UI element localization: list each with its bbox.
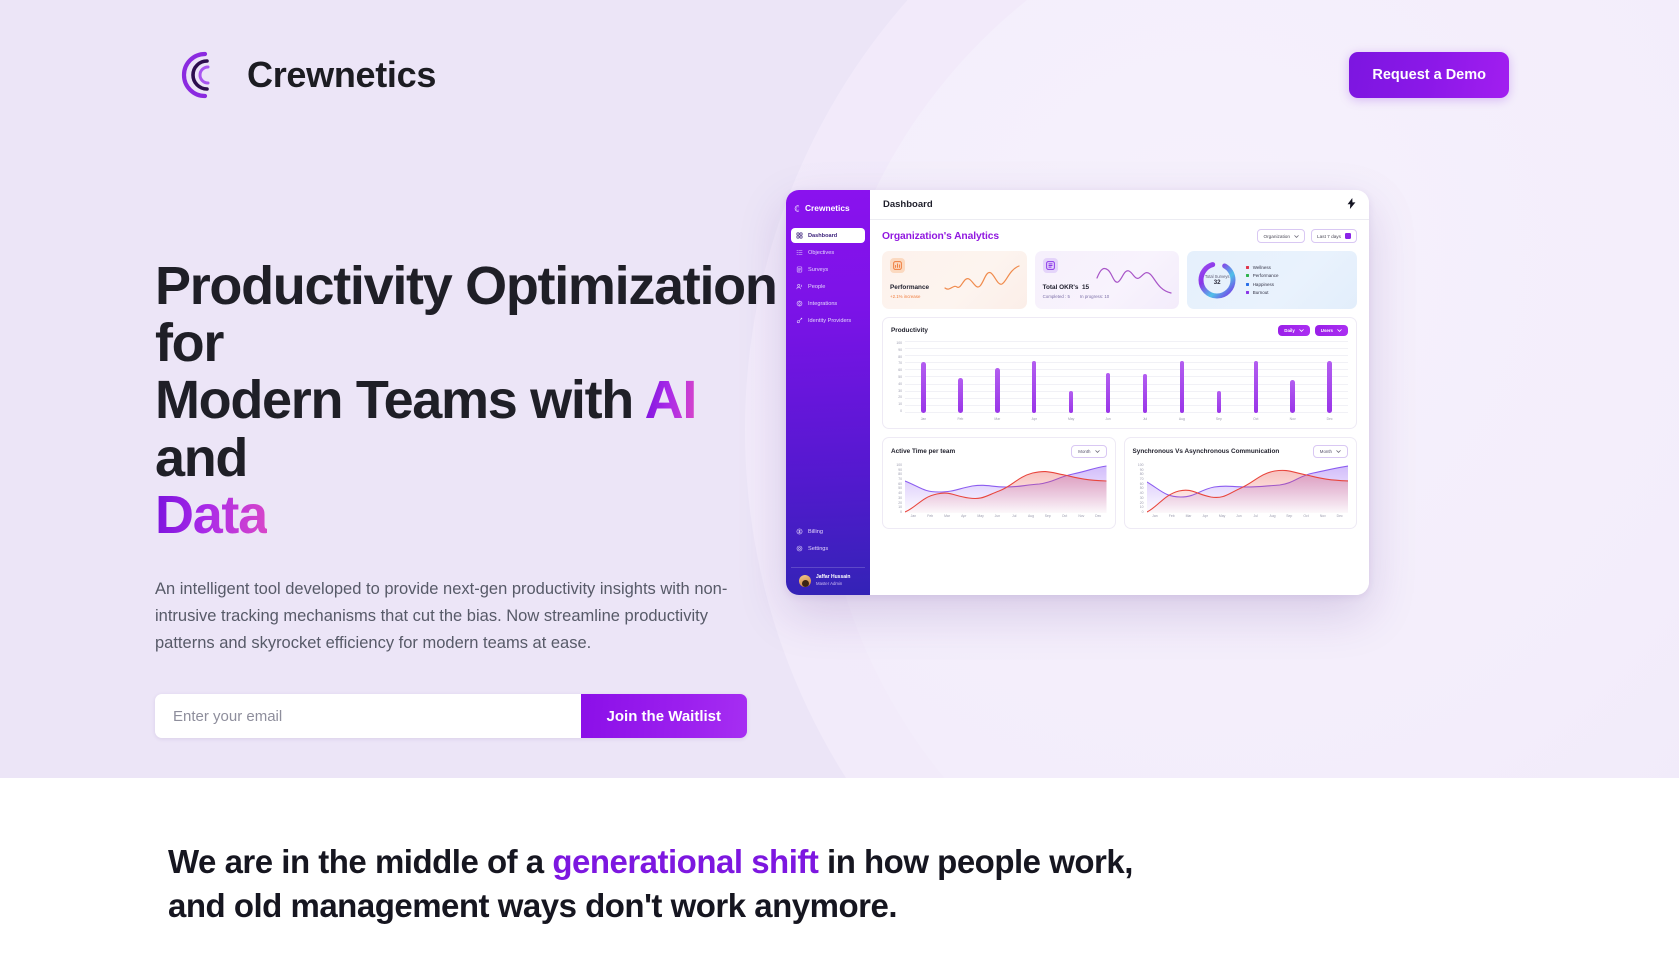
dashboard-body: Organization's Analytics Organization La… bbox=[870, 220, 1369, 595]
chart-plot-area: JanFebMarAprMayJunJulAugSepOctNovDec bbox=[905, 463, 1107, 521]
dashboard-main: Dashboard Organization's Analytics Organ… bbox=[870, 190, 1369, 595]
dashboard-mockup: Crewnetics Dashboard Objectiv bbox=[786, 190, 1369, 595]
panel-title: Synchronous Vs Asynchronous Communicatio… bbox=[1133, 448, 1280, 455]
donut-value: 32 bbox=[1214, 279, 1221, 286]
chevron-down-icon bbox=[1095, 450, 1100, 453]
bar bbox=[1327, 361, 1332, 413]
dashboard-brand: Crewnetics bbox=[786, 201, 870, 213]
active-time-panel: Active Time per team Month 1009080706050… bbox=[882, 437, 1116, 529]
survey-legend: Wellness Performance Happiness Burnout bbox=[1246, 265, 1278, 295]
bar bbox=[1032, 361, 1037, 413]
x-tick: Mar bbox=[1180, 514, 1197, 518]
legend-label: Wellness bbox=[1253, 265, 1271, 270]
chevron-down-icon bbox=[1336, 450, 1341, 453]
checklist-icon bbox=[1043, 258, 1058, 273]
headline-line-2-suffix: and bbox=[155, 428, 247, 488]
x-tick: Mar bbox=[979, 417, 1016, 421]
user-name: Jaffar Hussain bbox=[816, 574, 850, 581]
dashboard-header: Dashboard bbox=[870, 190, 1369, 220]
x-tick: Oct bbox=[1237, 417, 1274, 421]
x-tick: Aug bbox=[1163, 417, 1200, 421]
calendar-icon bbox=[1345, 233, 1351, 239]
card-okr-label: Total OKR's bbox=[1043, 284, 1079, 291]
bar-column bbox=[1200, 341, 1237, 413]
bar-column bbox=[1274, 341, 1311, 413]
bar-column bbox=[905, 341, 942, 413]
sidebar-label: Dashboard bbox=[808, 233, 837, 239]
x-tick: Jun bbox=[989, 514, 1006, 518]
section2-inner: We are in the middle of a generational s… bbox=[0, 778, 1679, 927]
area-charts-row: Active Time per team Month 1009080706050… bbox=[882, 437, 1357, 529]
x-tick: May bbox=[1053, 417, 1090, 421]
legend-swatch bbox=[1246, 291, 1249, 294]
sidebar-item-surveys[interactable]: Surveys bbox=[791, 262, 865, 277]
x-tick: Oct bbox=[1298, 514, 1315, 518]
page-title: Productivity Optimization for Modern Tea… bbox=[155, 258, 795, 544]
x-axis-labels: JanFebMarAprMayJunJulAugSepOctNovDec bbox=[905, 417, 1348, 421]
x-tick: Feb bbox=[1163, 514, 1180, 518]
headline-highlight-ai: AI bbox=[645, 370, 696, 430]
okr-sparkline bbox=[1095, 264, 1173, 301]
x-tick: Nov bbox=[1073, 514, 1090, 518]
x-tick: May bbox=[1214, 514, 1231, 518]
concentric-c-logo-icon bbox=[175, 48, 229, 102]
hero-copy: Productivity Optimization for Modern Tea… bbox=[155, 258, 795, 738]
request-demo-button[interactable]: Request a Demo bbox=[1349, 52, 1509, 98]
bar-column bbox=[1237, 341, 1274, 413]
comms-chart: 1009080706050403020100 bbox=[1133, 463, 1349, 521]
dollar-icon bbox=[796, 528, 803, 535]
card-surveys[interactable]: Total Surveys 32 Wellness Performance Ha… bbox=[1187, 251, 1357, 309]
email-input[interactable] bbox=[155, 694, 581, 738]
panel-title: Productivity bbox=[891, 327, 928, 334]
headline-highlight-data: Data bbox=[155, 485, 267, 545]
x-tick: Aug bbox=[1264, 514, 1281, 518]
donut-center-text: Total Surveys 32 bbox=[1195, 258, 1239, 302]
legend-item: Happiness bbox=[1246, 282, 1278, 287]
bar bbox=[958, 378, 963, 413]
productivity-bar-chart: 1009080706050403020100 JanFebMarAprMayJu… bbox=[891, 341, 1348, 421]
card-okr-value: 15 bbox=[1082, 284, 1089, 291]
key-icon bbox=[796, 317, 803, 324]
productivity-controls: Daily Users bbox=[1278, 325, 1348, 336]
sidebar-label: Objectives bbox=[808, 250, 834, 256]
bar-column bbox=[1090, 341, 1127, 413]
y-axis-labels: 1009080706050403020100 bbox=[891, 463, 905, 521]
x-tick: Nov bbox=[1314, 514, 1331, 518]
x-tick: Jun bbox=[1090, 417, 1127, 421]
analytics-title: Organization's Analytics bbox=[882, 231, 999, 242]
legend-swatch bbox=[1246, 274, 1249, 277]
control-month[interactable]: Month bbox=[1071, 445, 1106, 458]
bar bbox=[1217, 391, 1222, 413]
bar-column bbox=[1053, 341, 1090, 413]
bar bbox=[1254, 361, 1259, 413]
sidebar-item-dashboard[interactable]: Dashboard bbox=[791, 228, 865, 243]
comms-panel: Synchronous Vs Asynchronous Communicatio… bbox=[1124, 437, 1358, 529]
y-axis-labels: 1009080706050403020100 bbox=[891, 341, 905, 421]
comms-header: Synchronous Vs Asynchronous Communicatio… bbox=[1133, 445, 1349, 458]
top-navigation-bar: Crewnetics Request a Demo bbox=[0, 0, 1679, 150]
brand-logo[interactable]: Crewnetics bbox=[175, 48, 436, 102]
x-tick: Dec bbox=[1331, 514, 1348, 518]
legend-swatch bbox=[1246, 266, 1249, 269]
card-performance[interactable]: Performance +2.1% increase bbox=[882, 251, 1027, 309]
dashboard-page-title: Dashboard bbox=[883, 199, 933, 210]
chart-bars bbox=[905, 341, 1348, 413]
area-series bbox=[905, 463, 1107, 513]
chart-plot-area: JanFebMarAprMayJunJulAugSepOctNovDec bbox=[905, 341, 1348, 421]
sidebar-label: Billing bbox=[808, 529, 823, 535]
x-tick: May bbox=[972, 514, 989, 518]
control-daily[interactable]: Daily bbox=[1278, 325, 1310, 336]
x-tick: Dec bbox=[1311, 417, 1348, 421]
legend-label: Performance bbox=[1253, 273, 1279, 278]
x-tick: Dec bbox=[1090, 514, 1107, 518]
x-tick: Oct bbox=[1056, 514, 1073, 518]
x-tick: Sep bbox=[1281, 514, 1298, 518]
bar-column bbox=[1127, 341, 1164, 413]
bar-column bbox=[942, 341, 979, 413]
dashboard-nav-bottom: Billing Settings Jaffar Hussain Master A… bbox=[786, 524, 870, 595]
x-tick: Mar bbox=[939, 514, 956, 518]
comms-controls: Month bbox=[1313, 445, 1348, 458]
control-month[interactable]: Month bbox=[1313, 445, 1348, 458]
dashboard-brand-name: Crewnetics bbox=[805, 203, 850, 213]
user-info: Jaffar Hussain Master Admin bbox=[816, 574, 850, 587]
bar bbox=[1180, 361, 1185, 413]
okr-completed: Completed : 5 bbox=[1043, 294, 1070, 299]
x-tick: Jan bbox=[905, 514, 922, 518]
bar-column bbox=[1016, 341, 1053, 413]
active-time-header: Active Time per team Month bbox=[891, 445, 1107, 458]
avatar bbox=[799, 575, 811, 587]
x-tick: Feb bbox=[922, 514, 939, 518]
control-label: Daily bbox=[1284, 328, 1295, 333]
headline-line-1: Productivity Optimization for bbox=[155, 256, 777, 373]
hero-subtext: An intelligent tool developed to provide… bbox=[155, 576, 755, 656]
stat-cards: Performance +2.1% increase bbox=[882, 251, 1357, 309]
sidebar-label: People bbox=[808, 284, 825, 290]
card-okr[interactable]: Total OKR's 15 Completed : 5 In progress… bbox=[1035, 251, 1180, 309]
bar-column bbox=[979, 341, 1016, 413]
clipboard-icon bbox=[796, 266, 803, 273]
bar bbox=[995, 368, 1000, 413]
x-tick: Jan bbox=[1147, 514, 1164, 518]
x-tick: Nov bbox=[1274, 417, 1311, 421]
x-tick: Jul bbox=[1006, 514, 1023, 518]
sidebar-item-people[interactable]: People bbox=[791, 279, 865, 294]
join-waitlist-button[interactable]: Join the Waitlist bbox=[581, 694, 747, 738]
sidebar-label: Surveys bbox=[808, 267, 828, 273]
user-role: Master Admin bbox=[816, 581, 850, 587]
chevron-down-icon bbox=[1337, 329, 1342, 332]
survey-donut-chart: Total Surveys 32 bbox=[1195, 258, 1239, 302]
waitlist-form: Join the Waitlist bbox=[155, 694, 747, 738]
sidebar-item-billing[interactable]: Billing bbox=[791, 524, 865, 539]
generational-shift-section: We are in the middle of a generational s… bbox=[0, 778, 1679, 965]
dashboard-sidebar: Crewnetics Dashboard Objectiv bbox=[786, 190, 870, 595]
sidebar-item-objectives[interactable]: Objectives bbox=[791, 245, 865, 260]
plug-icon bbox=[796, 300, 803, 307]
chevron-down-icon bbox=[1294, 235, 1299, 238]
hero-section: Crewnetics Request a Demo Productivity O… bbox=[0, 0, 1679, 778]
headline-line-2-prefix: Modern Teams with bbox=[155, 370, 645, 430]
productivity-panel: Productivity Daily Users bbox=[882, 317, 1357, 429]
x-tick: Sep bbox=[1200, 417, 1237, 421]
productivity-header: Productivity Daily Users bbox=[891, 325, 1348, 336]
section2-headline: We are in the middle of a generational s… bbox=[168, 840, 1168, 927]
bar bbox=[921, 362, 926, 413]
analytics-filters: Organization Last 7 days bbox=[1257, 229, 1357, 243]
bar bbox=[1143, 374, 1148, 413]
performance-sparkline bbox=[943, 264, 1021, 301]
bar-column bbox=[1163, 341, 1200, 413]
control-label: Users bbox=[1321, 328, 1333, 333]
control-label: Month bbox=[1320, 449, 1332, 454]
brand-name: Crewnetics bbox=[247, 54, 436, 96]
legend-item: Burnout bbox=[1246, 290, 1278, 295]
sidebar-item-integrations[interactable]: Integrations bbox=[791, 296, 865, 311]
panel-title: Active Time per team bbox=[891, 448, 955, 455]
area-series bbox=[1147, 463, 1349, 513]
x-tick: Jun bbox=[1230, 514, 1247, 518]
y-axis-labels: 1009080706050403020100 bbox=[1133, 463, 1147, 521]
x-tick: Jul bbox=[1247, 514, 1264, 518]
bar bbox=[1290, 380, 1295, 413]
analytics-header: Organization's Analytics Organization La… bbox=[882, 229, 1357, 243]
sidebar-user-profile[interactable]: Jaffar Hussain Master Admin bbox=[791, 567, 865, 595]
control-users[interactable]: Users bbox=[1315, 325, 1348, 336]
active-time-chart: 1009080706050403020100 bbox=[891, 463, 1107, 521]
x-tick: Apr bbox=[955, 514, 972, 518]
lightning-bolt-icon[interactable] bbox=[1347, 198, 1356, 212]
x-tick: Jul bbox=[1127, 417, 1164, 421]
section2-text-a: We are in the middle of a bbox=[168, 843, 552, 880]
sidebar-item-settings[interactable]: Settings bbox=[791, 541, 865, 556]
chart-plot-area: JanFebMarAprMayJunJulAugSepOctNovDec bbox=[1147, 463, 1349, 521]
x-tick: Jan bbox=[905, 417, 942, 421]
x-tick: Aug bbox=[1023, 514, 1040, 518]
active-time-controls: Month bbox=[1071, 445, 1106, 458]
bar-chart-icon bbox=[890, 258, 905, 273]
gear-icon bbox=[796, 545, 803, 552]
people-icon bbox=[796, 283, 803, 290]
x-axis-labels: JanFebMarAprMayJunJulAugSepOctNovDec bbox=[1147, 514, 1349, 518]
legend-label: Happiness bbox=[1253, 282, 1274, 287]
legend-label: Burnout bbox=[1253, 290, 1269, 295]
sidebar-item-identity-providers[interactable]: Identity Providers bbox=[791, 313, 865, 328]
filter-date-range[interactable]: Last 7 days bbox=[1311, 229, 1357, 243]
x-tick: Apr bbox=[1016, 417, 1053, 421]
concentric-c-logo-icon-small bbox=[794, 205, 801, 212]
x-axis-labels: JanFebMarAprMayJunJulAugSepOctNovDec bbox=[905, 514, 1107, 518]
sidebar-label: Integrations bbox=[808, 301, 837, 307]
section2-accent: generational shift bbox=[552, 843, 818, 880]
legend-item: Performance bbox=[1246, 273, 1278, 278]
sidebar-label: Settings bbox=[808, 546, 828, 552]
sidebar-label: Identity Providers bbox=[808, 318, 851, 324]
bar-column bbox=[1311, 341, 1348, 413]
legend-item: Wellness bbox=[1246, 265, 1278, 270]
grid-icon bbox=[796, 232, 803, 239]
filter-label: Last 7 days bbox=[1317, 234, 1341, 239]
control-label: Month bbox=[1078, 449, 1090, 454]
dashboard-nav: Dashboard Objectives Surveys bbox=[786, 228, 870, 328]
filter-label: Organization bbox=[1263, 234, 1290, 239]
x-tick: Feb bbox=[942, 417, 979, 421]
list-icon bbox=[796, 249, 803, 256]
legend-swatch bbox=[1246, 283, 1249, 286]
x-tick: Sep bbox=[1039, 514, 1056, 518]
bar bbox=[1106, 373, 1111, 413]
bar bbox=[1069, 391, 1074, 413]
filter-organization[interactable]: Organization bbox=[1257, 229, 1305, 243]
x-tick: Apr bbox=[1197, 514, 1214, 518]
chevron-down-icon bbox=[1299, 329, 1304, 332]
